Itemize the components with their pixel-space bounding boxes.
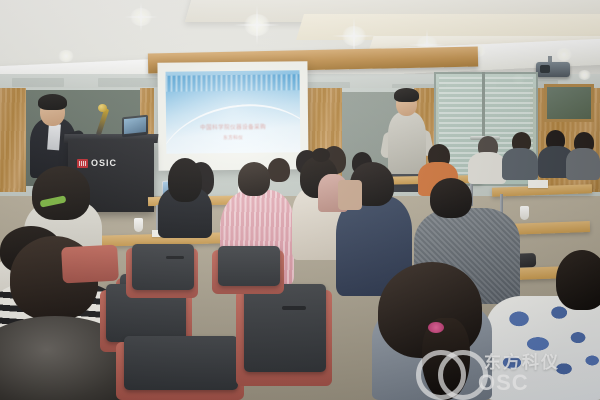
audience-head: [268, 158, 290, 182]
podium-brand-text: OSIC: [91, 158, 117, 168]
screen-glare: [157, 61, 308, 171]
presenter-hair: [394, 88, 419, 102]
presenter-body: [388, 112, 426, 174]
ceiling-downlight: [556, 48, 572, 61]
osic-logo-mark: [77, 159, 88, 168]
audience-arm: [338, 180, 362, 210]
ceiling-tile: [98, 78, 158, 87]
audience-hair: [168, 158, 202, 202]
wood-wall-panel: [0, 88, 26, 192]
pink-hair-tie: [428, 322, 444, 333]
chair-back: [218, 246, 280, 286]
hair-bun: [312, 148, 330, 162]
paper-sheet: [528, 180, 548, 188]
seminar-room-photo: 中国科学院仪器设备采购 东方科仪 OSIC: [0, 0, 600, 400]
chair-frame: [61, 245, 119, 284]
chair-back-slot: [282, 306, 306, 310]
audience-hair: [238, 162, 270, 196]
audience-hair: [556, 250, 600, 310]
projection-screen: 中国科学院仪器设备采购 东方科仪: [157, 61, 308, 171]
audience-body: [502, 148, 538, 180]
chair-back: [124, 336, 238, 390]
paper-cup: [134, 218, 143, 232]
framed-wall-picture: [544, 84, 594, 122]
ceiling-downlight: [244, 14, 270, 36]
audience-hair: [32, 166, 90, 220]
ceiling-projector: [536, 62, 570, 77]
podium-logo: OSIC: [77, 158, 117, 168]
podium-speaker-shirt: [47, 124, 61, 151]
ceiling-tile: [12, 78, 64, 87]
ceiling-downlight: [578, 70, 591, 80]
ceiling-downlight: [130, 8, 152, 26]
audience-body: [468, 152, 506, 184]
podium-laptop: [122, 115, 148, 138]
paper-cup: [520, 206, 529, 220]
ceiling-downlight: [342, 26, 366, 46]
audience-body: [566, 148, 600, 180]
blue-white-porcelain-print: [486, 296, 600, 400]
chair-back-slot: [166, 256, 184, 259]
podium-speaker-hair: [38, 94, 67, 110]
ceiling-downlight: [58, 50, 74, 62]
chair-back: [244, 284, 326, 372]
audience-hair: [430, 178, 472, 218]
microphone-head: [98, 104, 107, 112]
chair-back: [132, 244, 194, 290]
